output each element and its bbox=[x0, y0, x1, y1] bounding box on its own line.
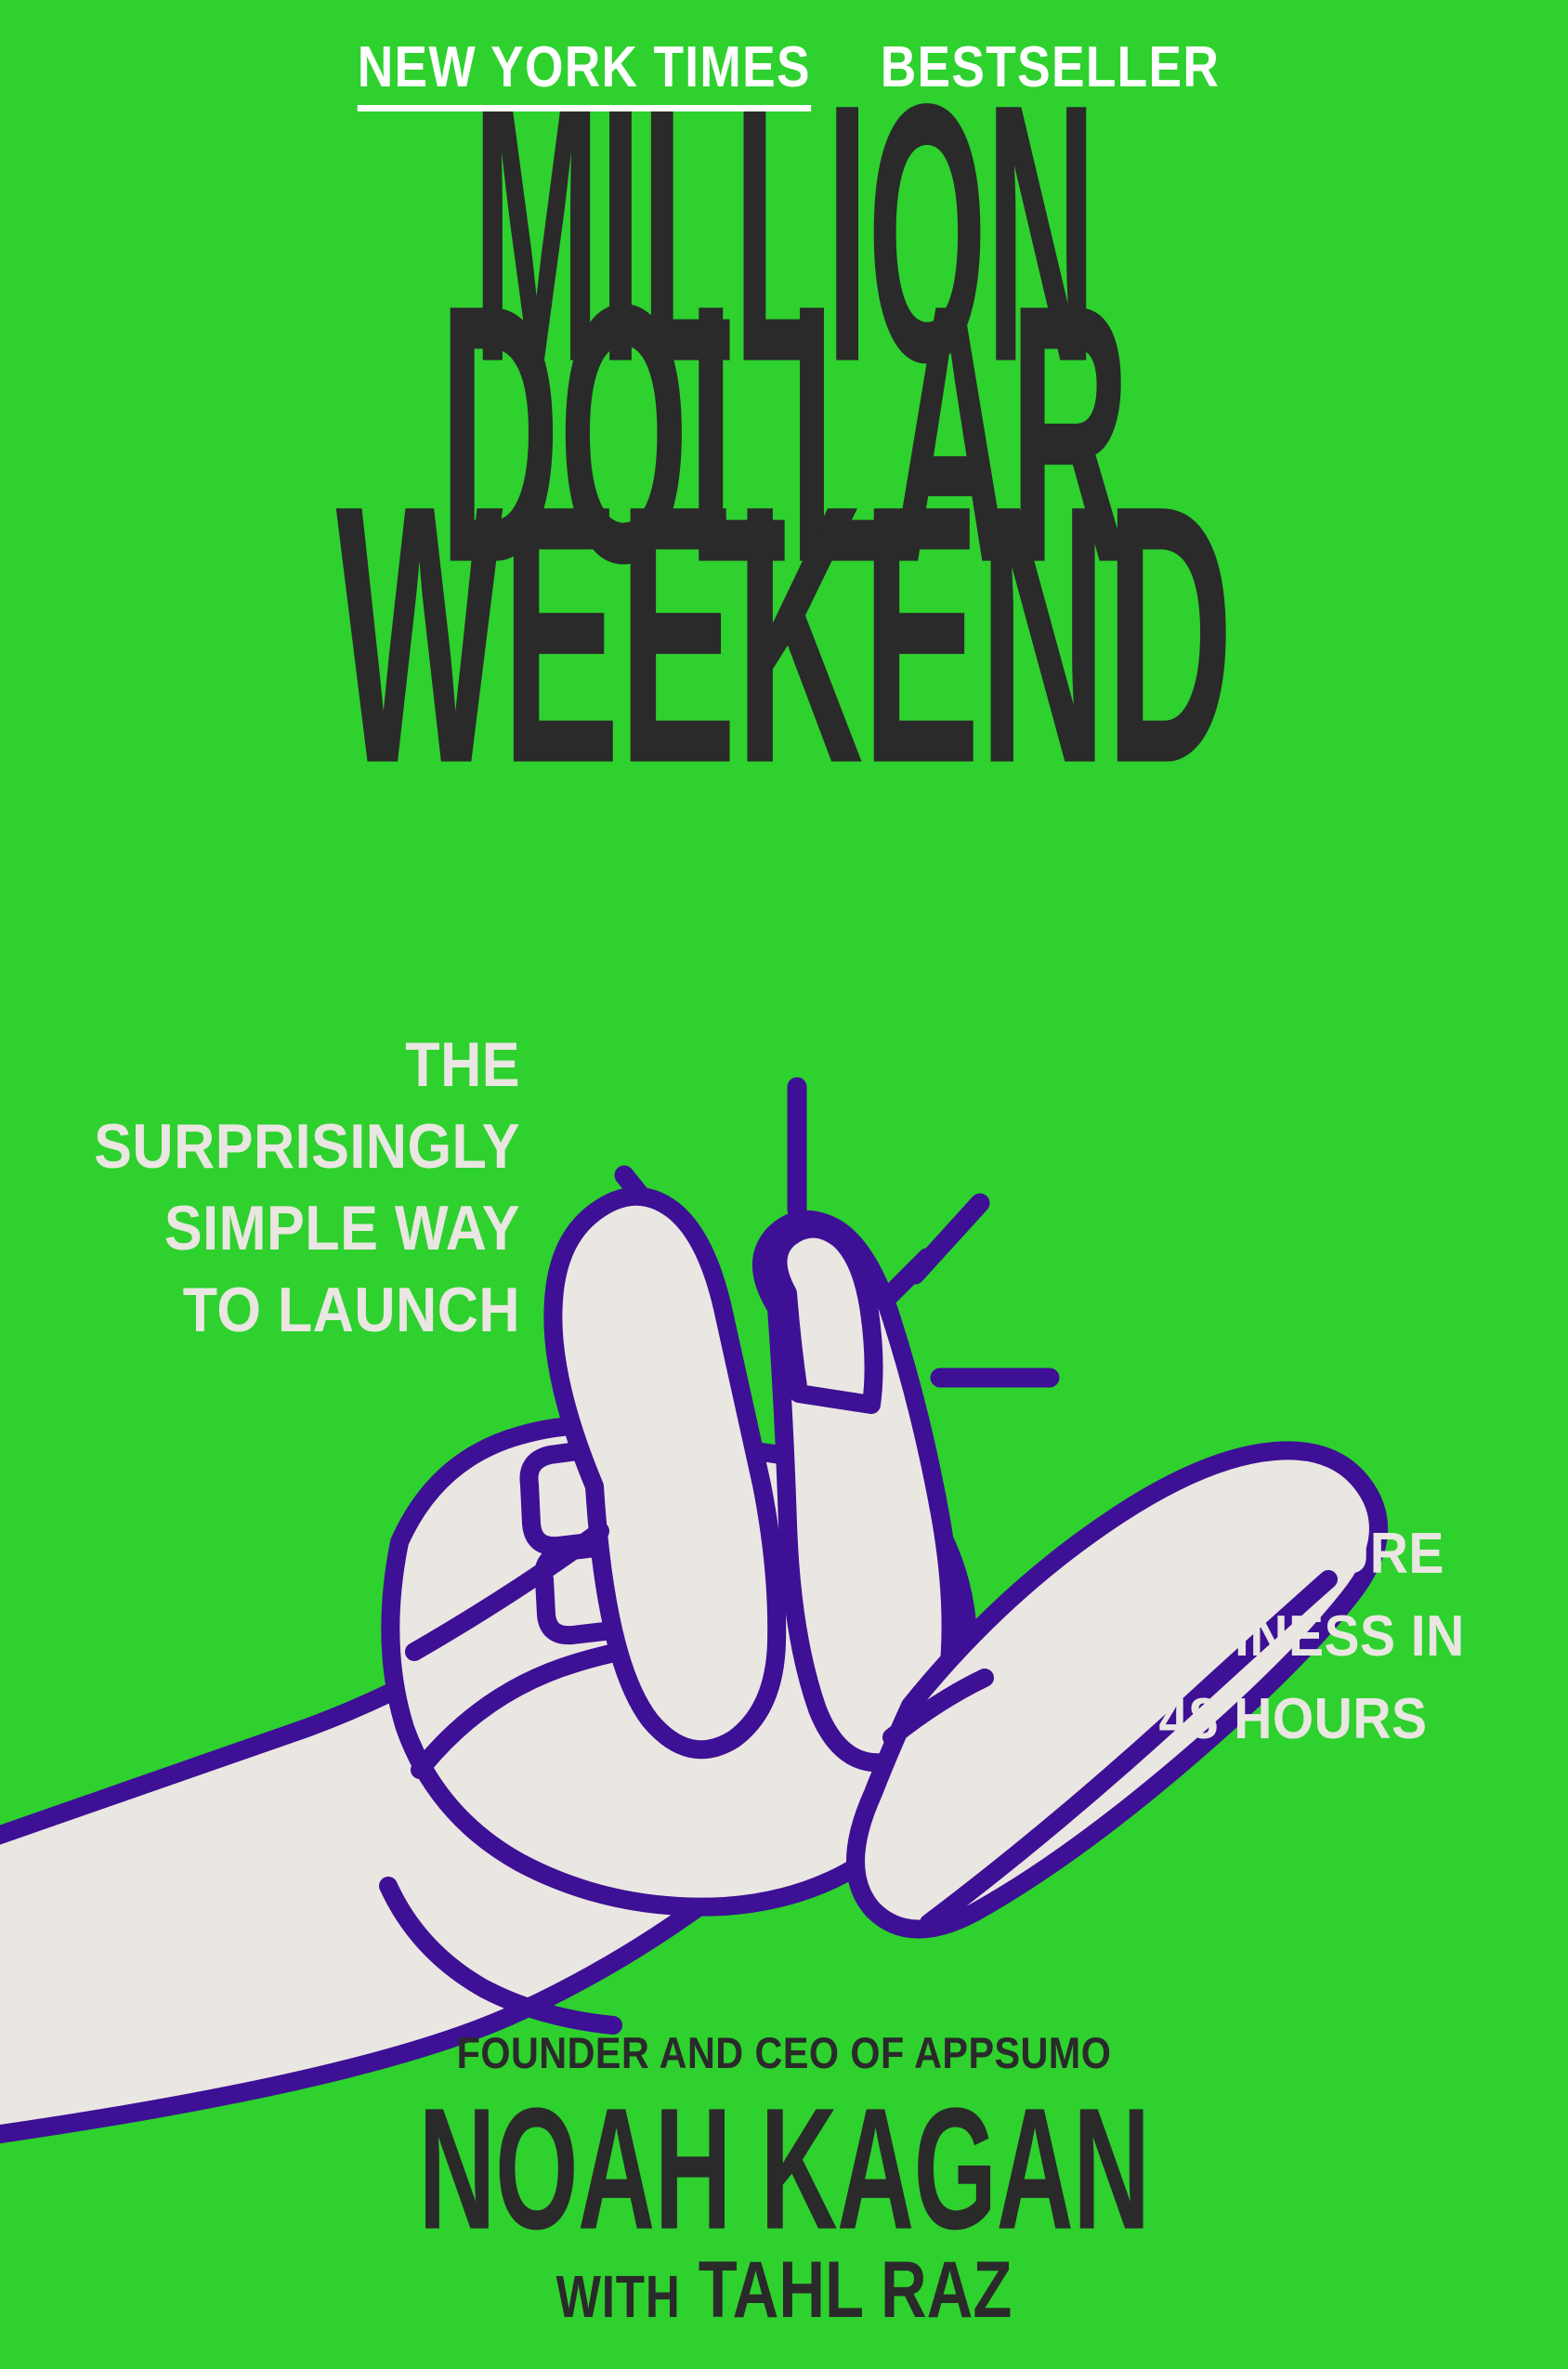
thumb bbox=[553, 1197, 777, 1750]
author-name: NOAH KAGAN bbox=[212, 2090, 1356, 2250]
title-line-weekend: WEEKEND bbox=[286, 487, 1282, 781]
subtitle-left-line-1: THE bbox=[69, 1031, 520, 1098]
coauthor-line: WITH TAHL RAZ bbox=[157, 2250, 1411, 2330]
nyt-bestseller-banner: NEW YORK TIMESBESTSELLER bbox=[0, 39, 1568, 111]
subtitle-left-line-3: SIMPLE WAY bbox=[69, 1195, 520, 1262]
palm-fist bbox=[390, 1425, 968, 1906]
sparkle-ray-upper-right-outer bbox=[915, 1203, 980, 1275]
title-line-dollar: DOLLAR bbox=[314, 286, 1255, 581]
sparkle-ray-upper-left-inner bbox=[675, 1236, 709, 1278]
coauthor-with-word: WITH bbox=[556, 2263, 681, 2330]
curled-middle-finger bbox=[543, 1538, 706, 1635]
subtitle-left-block: THE SURPRISINGLY SIMPLE WAY TO LAUNCH bbox=[19, 1031, 520, 1343]
fist-crease bbox=[420, 1643, 734, 1771]
subtitle-left-line-4: TO LAUNCH bbox=[69, 1276, 520, 1343]
sparkle-ray-upper-right-inner bbox=[884, 1258, 927, 1301]
snapping-middle-finger bbox=[762, 1220, 951, 1763]
curled-index-finger bbox=[529, 1440, 695, 1546]
title-line-million: MILLION bbox=[353, 85, 1215, 380]
subtitle-left-line-2: SURPRISINGLY bbox=[69, 1113, 520, 1180]
sparkle-ray-left bbox=[565, 1368, 667, 1378]
subtitle-right-block: A 7-FIGURE BUSINESS IN 48 HOURS bbox=[1052, 1524, 1535, 1751]
side-crease bbox=[946, 1714, 970, 1793]
subtitle-right-line-1: A 7-FIGURE bbox=[1071, 1524, 1515, 1586]
nyt-underlined-text: NEW YORK TIMES bbox=[357, 39, 810, 111]
thumb-base-crease bbox=[388, 1886, 613, 2025]
author-credit: FOUNDER AND CEO OF APPSUMO bbox=[94, 2031, 1473, 2075]
book-title: MILLION DOLLAR WEEKEND bbox=[0, 85, 1568, 710]
wrist-contour bbox=[414, 1531, 600, 1652]
fingernail bbox=[777, 1228, 873, 1405]
author-block: FOUNDER AND CEO OF APPSUMO NOAH KAGAN WI… bbox=[0, 2031, 1568, 2330]
ring-finger-fold bbox=[892, 1678, 985, 1737]
sparkle-ray-upper-left-outer bbox=[624, 1175, 689, 1256]
book-cover: NEW YORK TIMESBESTSELLER MILLION DOLLAR … bbox=[0, 0, 1568, 2369]
sparkle-rays bbox=[565, 1087, 1050, 1378]
subtitle-right-line-3: 48 HOURS bbox=[1071, 1689, 1515, 1751]
subtitle-right-line-2: BUSINESS IN bbox=[1071, 1606, 1515, 1669]
coauthor-name: TAHL RAZ bbox=[699, 2245, 1013, 2335]
nyt-plain-text: BESTSELLER bbox=[881, 39, 1220, 105]
